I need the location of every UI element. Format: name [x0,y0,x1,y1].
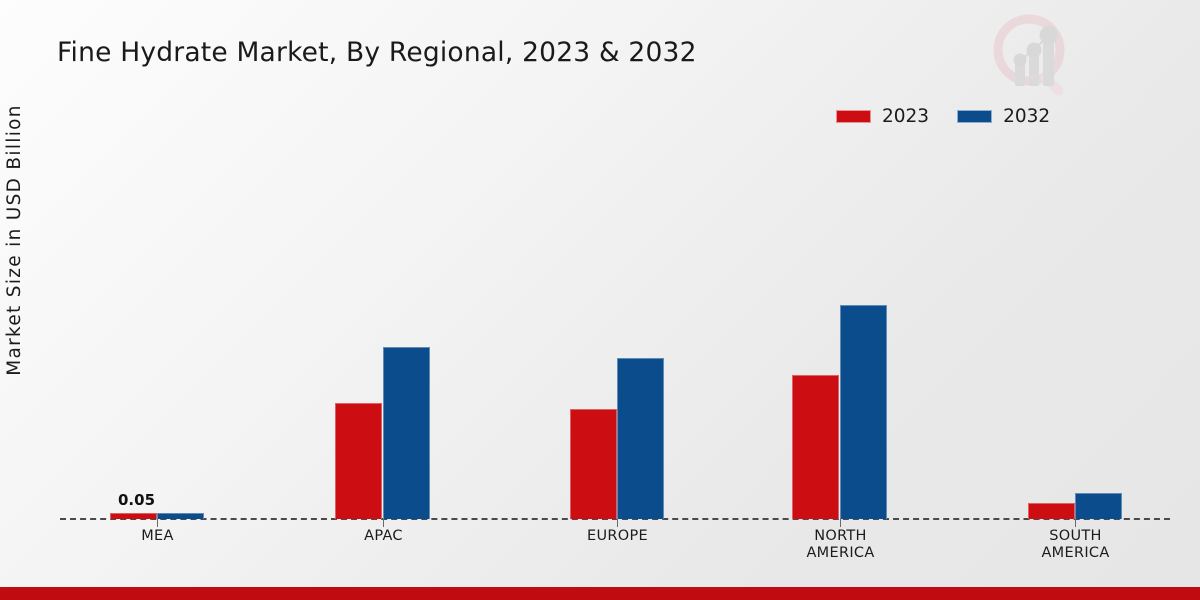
bar-2032-south-america[interactable] [1075,493,1122,519]
bar-value-label: 0.05 [118,491,155,509]
x-axis-label: NORTH AMERICA [803,528,878,562]
x-axis-tick [157,519,158,527]
bar-2032-mea[interactable] [157,513,204,519]
x-axis-tick [617,519,618,527]
x-axis-label: SOUTH AMERICA [1038,528,1113,562]
bar-2032-apac[interactable] [383,347,430,519]
plot-area: MEAAPACEUROPENORTH AMERICASOUTH AMERICA0… [0,0,1200,600]
bar-2023-north-america[interactable] [792,375,839,519]
x-axis-label: APAC [346,528,421,545]
chart-canvas: Fine Hydrate Market, By Regional, 2023 &… [0,0,1200,600]
footer-accent-bar [0,587,1200,600]
x-axis-label: EUROPE [580,528,655,545]
x-axis-tick [1075,519,1076,527]
x-axis-tick [383,519,384,527]
x-axis-tick [840,519,841,527]
bar-2032-europe[interactable] [617,358,664,519]
bar-2032-north-america[interactable] [840,305,887,519]
bar-2023-south-america[interactable] [1028,503,1075,519]
bar-2023-mea[interactable] [110,513,157,519]
x-axis-label: MEA [120,528,195,545]
bar-2023-apac[interactable] [335,403,382,519]
bar-2023-europe[interactable] [570,409,617,519]
